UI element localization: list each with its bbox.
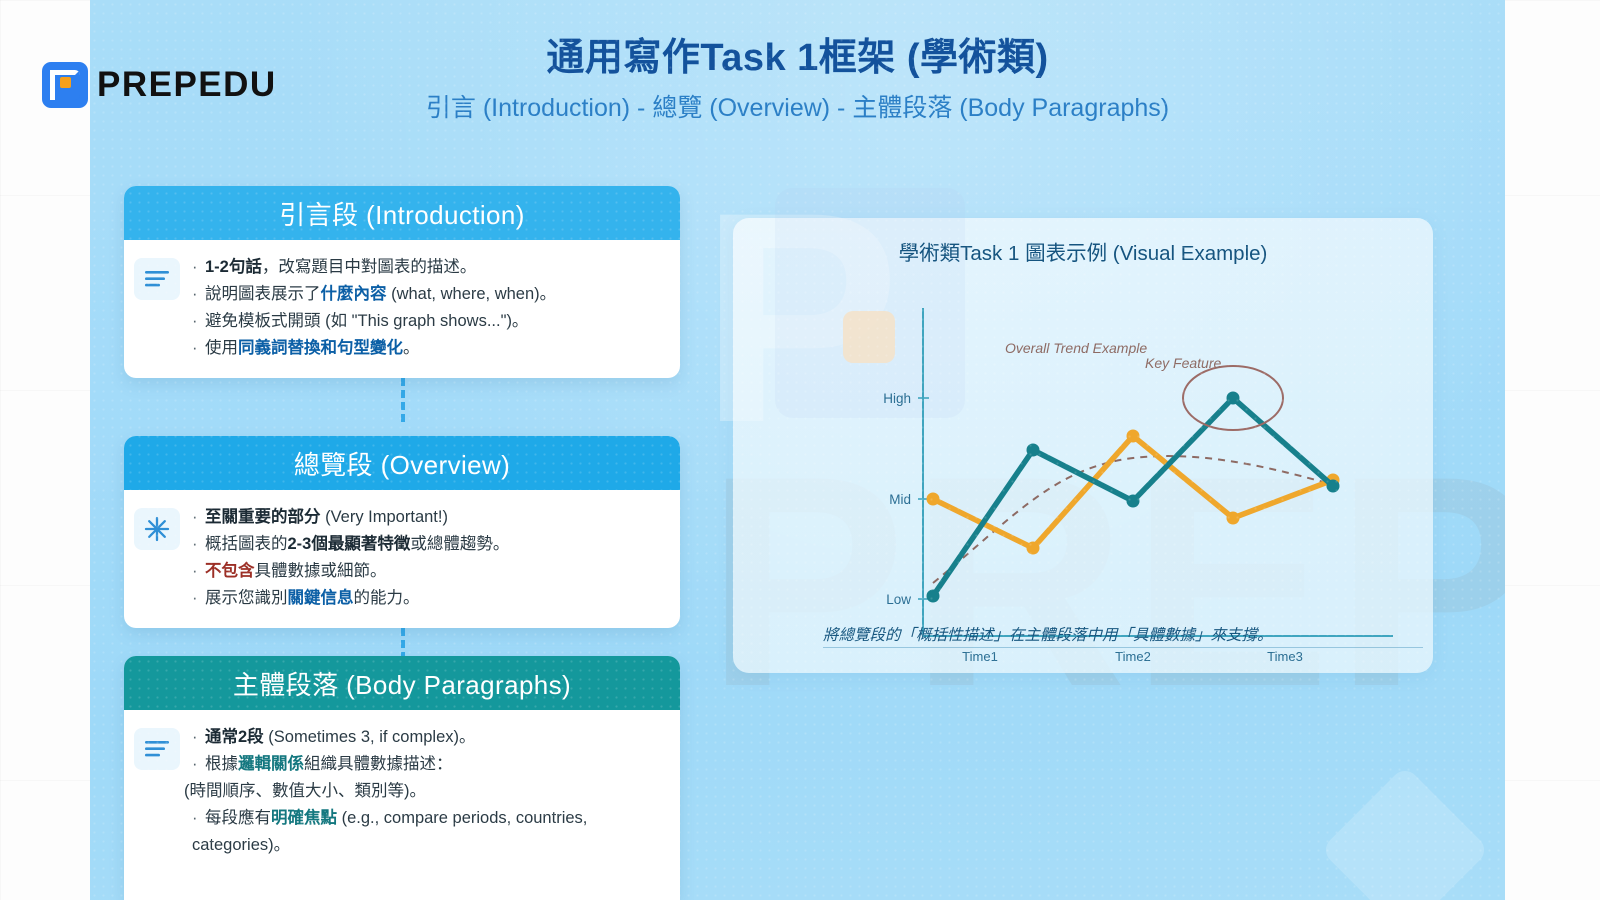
prepedu-logo-icon (42, 62, 88, 108)
card-body-paragraphs-title: 主體段落 (Body Paragraphs) (233, 665, 571, 702)
teal-series-points (927, 392, 1340, 603)
brand-logo[interactable]: PREPEDU (42, 62, 277, 108)
card-introduction-title: 引言段 (Introduction) (279, 195, 525, 232)
line-chart: High Mid Low Time1 Time2 Time3 (733, 218, 1433, 673)
card-introduction-header: 引言段 (Introduction) (124, 186, 680, 240)
list-item: ·每段應有明確焦點 (e.g., compare periods, countr… (192, 805, 664, 859)
card-body-paragraphs-list: ·通常2段 (Sometimes 3, if complex)。 ·根據邏輯關係… (184, 724, 664, 858)
card-body-paragraphs-header: 主體段落 (Body Paragraphs) (124, 656, 680, 710)
page-subtitle: 引言 (Introduction) - 總覽 (Overview) - 主體段落… (90, 88, 1505, 124)
chart-note: 將總覽段的「概括性描述」在主體段落中用「具體數據」來支撐。 (823, 623, 1423, 648)
annotation-overall-trend: Overall Trend Example (1005, 340, 1147, 356)
orange-series-line (933, 436, 1333, 548)
page-title: 通用寫作Task 1框架 (學術類) (90, 26, 1505, 81)
list-item: ·通常2段 (Sometimes 3, if complex)。 (192, 724, 664, 751)
list-item: ·說明圖表展示了什麼內容 (what, where, when)。 (192, 281, 664, 308)
card-overview-title: 總覽段 (Overview) (294, 445, 511, 482)
brand-name: PREPEDU (97, 65, 277, 105)
overall-trend-dashed-line (933, 456, 1338, 583)
chart-panel: 學術類Task 1 圖表示例 (Visual Example) High Mid… (733, 218, 1433, 673)
list-item: ·根據邏輯關係組織具體數據描述： (192, 751, 664, 778)
card-overview[interactable]: 總覽段 (Overview) ·至關重要的部分 (Very Important!… (124, 436, 680, 628)
list-item: ·1-2句話，改寫題目中對圖表的描述。 (192, 254, 664, 281)
card-introduction[interactable]: 引言段 (Introduction) ·1-2句話，改寫題目中對圖表的描述。 ·… (124, 186, 680, 378)
card-introduction-body: ·1-2句話，改寫題目中對圖表的描述。 ·說明圖表展示了什麼內容 (what, … (124, 240, 680, 378)
y-tick-mid: Mid (889, 492, 911, 507)
list-item: ·不包含具體數據或細節。 (192, 558, 664, 585)
x-tick-time2: Time2 (1115, 649, 1151, 664)
lines-list-icon (134, 728, 180, 770)
y-tick-high: High (883, 391, 911, 406)
list-item: ·至關重要的部分 (Very Important!) (192, 504, 664, 531)
asterisk-star-icon (134, 508, 180, 550)
annotation-key-feature: Key Feature (1145, 355, 1221, 371)
card-overview-header: 總覽段 (Overview) (124, 436, 680, 490)
orange-series-points (927, 430, 1340, 555)
connector-intro-overview (401, 378, 405, 422)
list-item: ·避免模板式開頭 (如 "This graph shows...")。 (192, 308, 664, 335)
lines-list-icon (134, 258, 180, 300)
list-item: ·概括圖表的2-3個最顯著特徵或總體趨勢。 (192, 531, 664, 558)
list-item: ·展示您識別關鍵信息的能力。 (192, 585, 664, 612)
card-overview-list: ·至關重要的部分 (Very Important!) ·概括圖表的2-3個最顯著… (184, 504, 664, 612)
card-overview-body: ·至關重要的部分 (Very Important!) ·概括圖表的2-3個最顯著… (124, 490, 680, 628)
card-introduction-list: ·1-2句話，改寫題目中對圖表的描述。 ·說明圖表展示了什麼內容 (what, … (184, 254, 664, 362)
x-tick-time1: Time1 (962, 649, 998, 664)
x-tick-time3: Time3 (1267, 649, 1303, 664)
y-tick-low: Low (886, 592, 911, 607)
slide-panel: P PREP 通用寫作Task 1框架 (學術類) 引言 (Introducti… (90, 0, 1505, 900)
list-item: ·使用同義詞替換和句型變化。 (192, 335, 664, 362)
card-body-paragraphs-body: ·通常2段 (Sometimes 3, if complex)。 ·根據邏輯關係… (124, 710, 680, 874)
list-item: (時間順序、數值大小、類別等)。 (184, 778, 664, 805)
card-body-paragraphs[interactable]: 主體段落 (Body Paragraphs) ·通常2段 (Sometimes … (124, 656, 680, 900)
decorative-diamond (1320, 765, 1490, 900)
